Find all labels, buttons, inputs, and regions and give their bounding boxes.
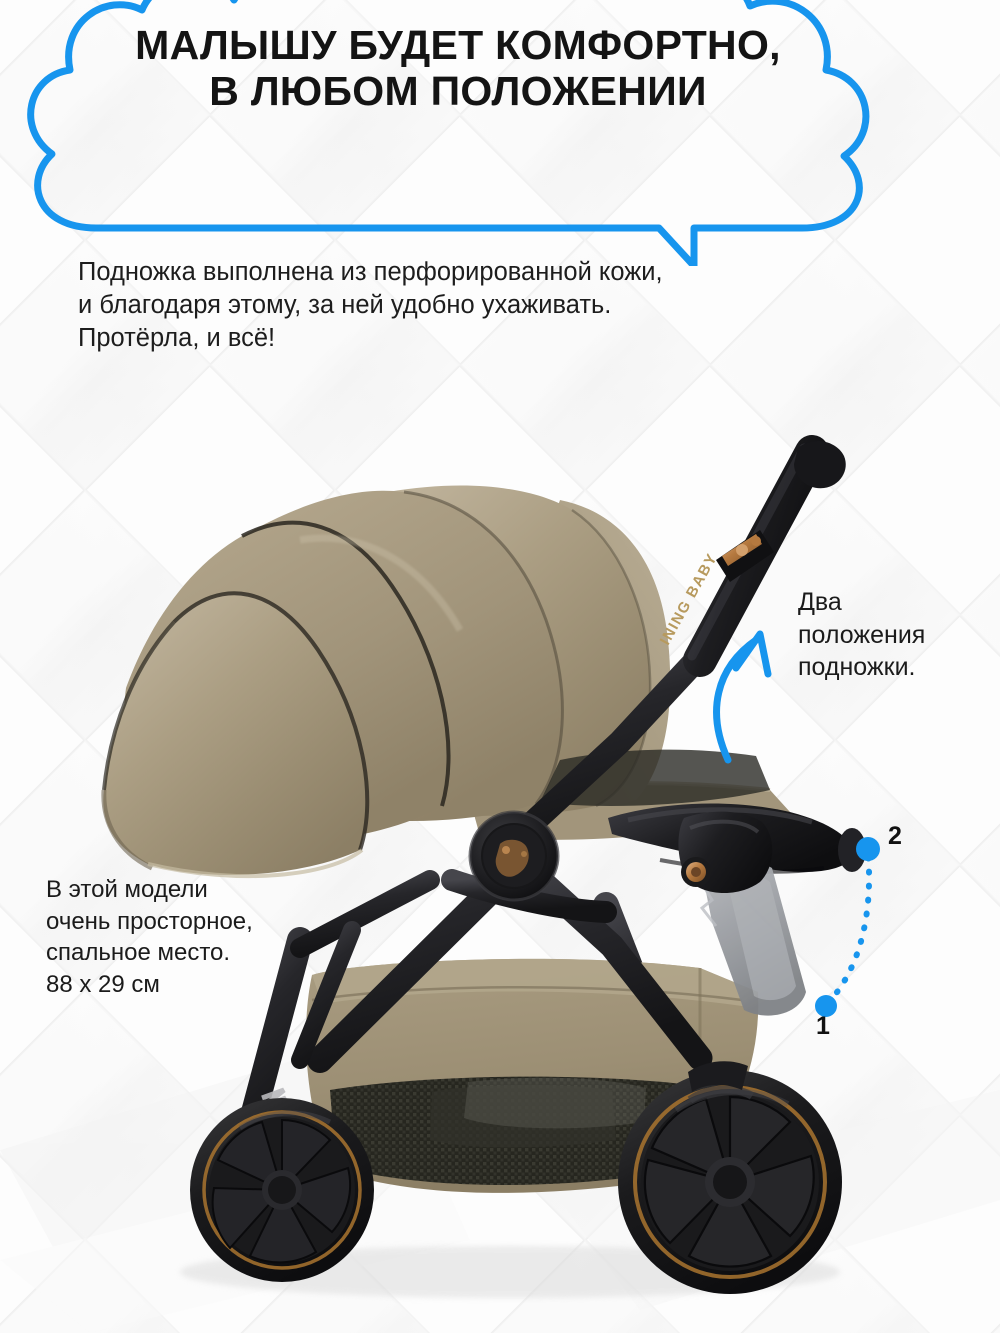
footrest-pivot xyxy=(681,857,711,887)
annotation-footrest-positions: Два положения подножки. xyxy=(798,586,925,684)
front-wheel xyxy=(190,1098,374,1282)
rear-wheel xyxy=(618,1070,842,1294)
position-label-1: 1 xyxy=(816,1012,830,1041)
annotation-sleeping-area: В этой модели очень просторное, спальное… xyxy=(46,874,253,1001)
center-hub xyxy=(470,812,558,900)
position-label-2: 2 xyxy=(888,822,902,851)
